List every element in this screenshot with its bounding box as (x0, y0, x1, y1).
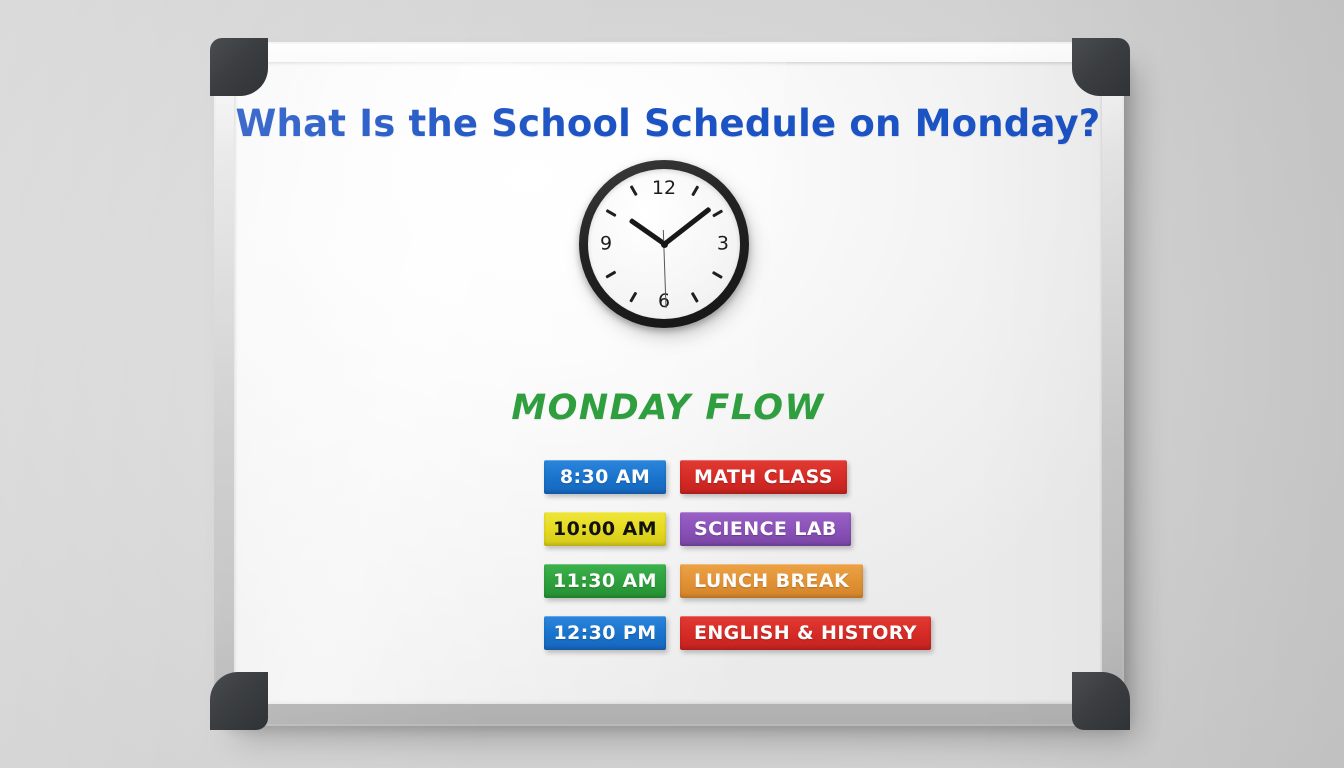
clock-numeral-12: 12 (652, 179, 676, 198)
clock-tick-1 (691, 185, 699, 196)
clock-hour-hand (628, 218, 665, 246)
clock-numeral-3: 3 (717, 235, 729, 254)
section-heading: MONDAY FLOW (234, 388, 1102, 428)
schedule-row: 8:30 AM MATH CLASS (544, 460, 931, 494)
clock-tick-11 (629, 185, 637, 196)
schedule-time-badge: 10:00 AM (544, 512, 666, 546)
wall-clock: 12 3 6 9 (577, 160, 759, 342)
clock-center-hub (661, 241, 668, 248)
schedule-subject-badge: MATH CLASS (680, 460, 847, 494)
frame-corner-top-left (210, 38, 268, 96)
frame-corner-bottom-right (1072, 672, 1130, 730)
schedule-time-badge: 8:30 AM (544, 460, 666, 494)
page-title: What Is the School Schedule on Monday? (234, 102, 1102, 145)
clock-numeral-9: 9 (600, 235, 612, 254)
clock-tick-2 (712, 209, 723, 217)
schedule-row: 12:30 PM ENGLISH & HISTORY (544, 616, 931, 650)
schedule-time-badge: 11:30 AM (544, 564, 666, 598)
wall-background: What Is the School Schedule on Monday? 1… (0, 0, 1344, 768)
clock-minute-hand (663, 207, 711, 246)
clock-tick-5 (691, 292, 699, 303)
whiteboard-surface: What Is the School Schedule on Monday? 1… (234, 62, 1102, 704)
schedule-subject-badge: LUNCH BREAK (680, 564, 863, 598)
clock-tick-4 (712, 271, 723, 279)
clock-tick-10 (605, 209, 616, 217)
schedule-time-badge: 12:30 PM (544, 616, 666, 650)
schedule-row: 10:00 AM SCIENCE LAB (544, 512, 931, 546)
frame-corner-bottom-left (210, 672, 268, 730)
clock-bezel: 12 3 6 9 (579, 160, 749, 328)
schedule-list: 8:30 AM MATH CLASS 10:00 AM SCIENCE LAB … (544, 460, 931, 668)
frame-corner-top-right (1072, 38, 1130, 96)
schedule-subject-badge: ENGLISH & HISTORY (680, 616, 931, 650)
clock-tick-8 (605, 271, 616, 279)
schedule-subject-badge: SCIENCE LAB (680, 512, 851, 546)
clock-tick-7 (629, 292, 637, 303)
whiteboard: What Is the School Schedule on Monday? 1… (214, 42, 1124, 726)
schedule-row: 11:30 AM LUNCH BREAK (544, 564, 931, 598)
clock-dial: 12 3 6 9 (588, 169, 740, 319)
